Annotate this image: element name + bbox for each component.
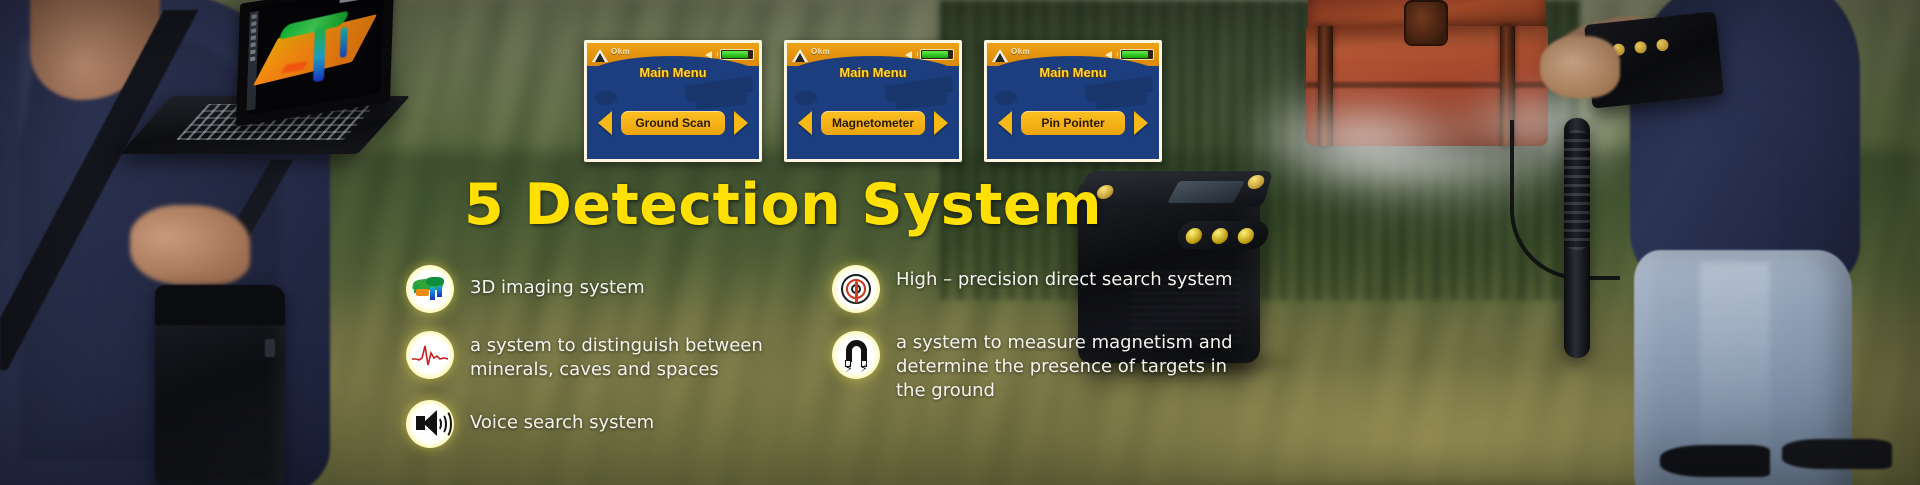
feature-label: a system to measure magnetism and determ… [896, 331, 1252, 402]
battery-icon [920, 49, 954, 60]
panel-brand-label: Okm [1011, 47, 1030, 56]
panel-title: Main Menu [987, 65, 1159, 80]
waveform-glyph [412, 343, 448, 367]
3d-terrain-icon [406, 265, 454, 313]
feature-list-left: 3D imaging system a system to distinguis… [406, 265, 806, 448]
panel-status-bar: Okm [787, 43, 959, 66]
device-panel-pin-pointer[interactable]: Okm Main Menu Pin Pointer [984, 40, 1162, 162]
brand-logo-icon [792, 46, 809, 62]
page-title: 5 Detection System [464, 172, 1102, 238]
panel-mode-selector[interactable]: Ground Scan [587, 109, 759, 137]
panel-status-bar: Okm [587, 43, 759, 66]
feature-item-3d-imaging: 3D imaging system [406, 265, 806, 313]
panel-status-bar: Okm [987, 43, 1159, 66]
speaker-icon [705, 49, 715, 60]
feature-item-magnetism: ⚡⚡ a system to measure magnetism and det… [832, 331, 1252, 402]
speaker-icon [905, 49, 915, 60]
device-mode-panels: Okm Main Menu Ground Scan Okm [584, 40, 1162, 162]
panel-brand-label: Okm [811, 47, 830, 56]
battery-icon [1120, 49, 1154, 60]
panel-title: Main Menu [787, 65, 959, 80]
brand-logo-icon [992, 46, 1009, 62]
feature-label: 3D imaging system [470, 265, 645, 300]
panel-mode-selector[interactable]: Pin Pointer [987, 109, 1159, 137]
feature-list-right: High – precision direct search system ⚡⚡… [832, 265, 1252, 402]
prev-mode-arrow-icon[interactable] [598, 111, 612, 135]
panel-title: Main Menu [587, 65, 759, 80]
promo-banner: Okm Main Menu Ground Scan Okm [0, 0, 1920, 485]
feature-label: High – precision direct search system [896, 265, 1233, 292]
feature-item-direct-search: High – precision direct search system [832, 265, 1252, 313]
feature-label: a system to distinguish between minerals… [470, 331, 806, 382]
next-mode-arrow-icon[interactable] [934, 111, 948, 135]
panel-mode-selector[interactable]: Magnetometer [787, 109, 959, 137]
feature-item-voice-search: Voice search system [406, 400, 806, 448]
panel-brand-label: Okm [611, 47, 630, 56]
prev-mode-arrow-icon[interactable] [998, 111, 1012, 135]
speaker-icon [406, 400, 454, 448]
mode-button[interactable]: Ground Scan [619, 109, 727, 137]
device-panel-magnetometer[interactable]: Okm Main Menu Magnetometer [784, 40, 962, 162]
feature-item-mineral-discrimination: a system to distinguish between minerals… [406, 331, 806, 382]
device-panel-ground-scan[interactable]: Okm Main Menu Ground Scan [584, 40, 762, 162]
radar-target-icon [832, 265, 880, 313]
mode-button[interactable]: Magnetometer [819, 109, 927, 137]
next-mode-arrow-icon[interactable] [734, 111, 748, 135]
brand-logo-icon [592, 46, 609, 62]
mode-button[interactable]: Pin Pointer [1019, 109, 1127, 137]
speaker-icon [1105, 49, 1115, 60]
magnet-icon: ⚡⚡ [832, 331, 880, 379]
next-mode-arrow-icon[interactable] [1134, 111, 1148, 135]
feature-label: Voice search system [470, 400, 654, 435]
battery-icon [720, 49, 754, 60]
prev-mode-arrow-icon[interactable] [798, 111, 812, 135]
waveform-icon [406, 331, 454, 379]
